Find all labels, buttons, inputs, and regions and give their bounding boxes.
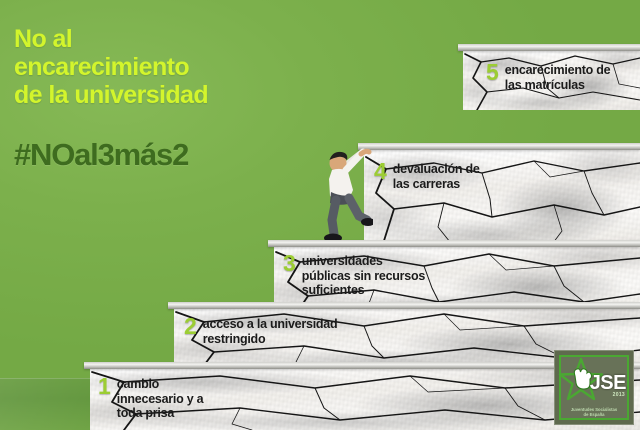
stair-lip-2 — [168, 302, 640, 309]
step-text-1: cambio innecesario y a toda prisa — [117, 375, 204, 421]
step-number-5: 5 — [486, 61, 499, 84]
person-icon — [305, 146, 373, 244]
step-label-5: 5 encarecimiento de las matrículas — [486, 61, 640, 92]
campaign-hashtag: #NOal3más2 — [14, 137, 188, 173]
step-label-2: 2 acceso a la universidad restringido — [184, 315, 424, 346]
poster-canvas: 5 encarecimiento de las matrículas 4 dev… — [0, 0, 640, 430]
step-text-3: universidades públicas sin recursos sufi… — [302, 252, 425, 298]
page-title: No al encarecimiento de la universidad — [14, 26, 314, 109]
climbing-person-figure — [305, 146, 373, 244]
step-number-3: 3 — [283, 252, 296, 275]
step-text-2: acceso a la universidad restringido — [203, 315, 338, 346]
jse-logo[interactable]: JSE 2013 Juventudes Socialistas de Españ… — [554, 350, 634, 425]
step-number-4: 4 — [374, 160, 387, 183]
step-label-1: 1 cambio innecesario y a toda prisa — [98, 375, 278, 421]
stair-lip-4 — [358, 143, 640, 150]
stair-lip-3 — [268, 240, 640, 247]
logo-subtitle: Juventudes Socialistas de España — [560, 407, 628, 418]
step-number-1: 1 — [98, 375, 111, 398]
step-number-2: 2 — [184, 315, 197, 338]
step-text-5: encarecimiento de las matrículas — [505, 61, 611, 92]
logo-year: 2013 — [613, 392, 625, 398]
step-label-4: 4 devaluación de las carreras — [374, 160, 574, 191]
logo-acronym: JSE — [590, 373, 626, 393]
step-text-4: devaluación de las carreras — [393, 160, 480, 191]
stair-lip-5 — [458, 44, 640, 51]
step-label-3: 3 universidades públicas sin recursos su… — [283, 252, 498, 298]
